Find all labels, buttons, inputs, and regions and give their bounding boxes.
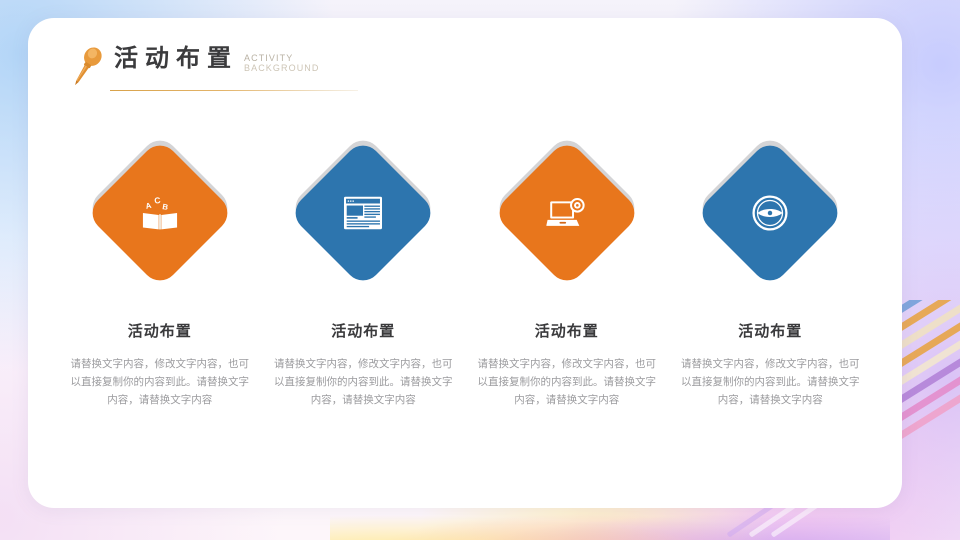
column-title: 活动布置 (738, 320, 802, 341)
feature-columns: C A B 活动布置 请替换文字内容，修改文字内容，也可以直接复制你的内容到此。… (58, 138, 872, 409)
slide-card: 活动布置 ACTIVITY BACKGROUND C A B (28, 18, 902, 508)
feature-column[interactable]: 活动布置 请替换文字内容，修改文字内容，也可以直接复制你的内容到此。请替换文字内… (465, 138, 669, 409)
column-title: 活动布置 (331, 320, 395, 341)
feature-column[interactable]: C A B 活动布置 请替换文字内容，修改文字内容，也可以直接复制你的内容到此。… (58, 138, 262, 409)
compass-icon (752, 195, 789, 232)
decorative-stripes-right (896, 300, 960, 540)
column-title: 活动布置 (535, 320, 599, 341)
page-title: 活动布置 (114, 44, 238, 74)
title-row: 活动布置 ACTIVITY BACKGROUND (114, 44, 320, 74)
column-body: 请替换文字内容，修改文字内容，也可以直接复制你的内容到此。请替换文字内容，请替换… (677, 355, 863, 409)
microphone-icon (64, 42, 110, 90)
feature-column[interactable]: 活动布置 请替换文字内容，修改文字内容，也可以直接复制你的内容到此。请替换文字内… (669, 138, 873, 409)
column-body: 请替换文字内容，修改文字内容，也可以直接复制你的内容到此。请替换文字内容，请替换… (67, 355, 253, 409)
svg-text:A: A (144, 201, 152, 211)
page-subtitle: ACTIVITY BACKGROUND (244, 53, 320, 73)
column-body: 请替换文字内容，修改文字内容，也可以直接复制你的内容到此。请替换文字内容，请替换… (474, 355, 660, 409)
feature-column[interactable]: 活动布置 请替换文字内容，修改文字内容，也可以直接复制你的内容到此。请替换文字内… (262, 138, 466, 409)
browser-window-icon (343, 196, 383, 230)
subtitle-line-1: ACTIVITY (244, 53, 320, 63)
diamond-tile[interactable] (288, 138, 438, 288)
subtitle-line-2: BACKGROUND (244, 63, 320, 73)
open-book-abc-icon: C A B (140, 195, 180, 232)
diamond-tile[interactable] (695, 138, 845, 288)
column-title: 活动布置 (128, 320, 192, 341)
diamond-tile[interactable] (492, 138, 642, 288)
diamond-tile[interactable]: C A B (85, 138, 235, 288)
svg-text:C: C (153, 195, 160, 206)
column-body: 请替换文字内容，修改文字内容，也可以直接复制你的内容到此。请替换文字内容，请替换… (270, 355, 456, 409)
svg-text:B: B (161, 202, 168, 212)
header-underline (110, 90, 358, 91)
laptop-disc-icon (546, 196, 587, 231)
